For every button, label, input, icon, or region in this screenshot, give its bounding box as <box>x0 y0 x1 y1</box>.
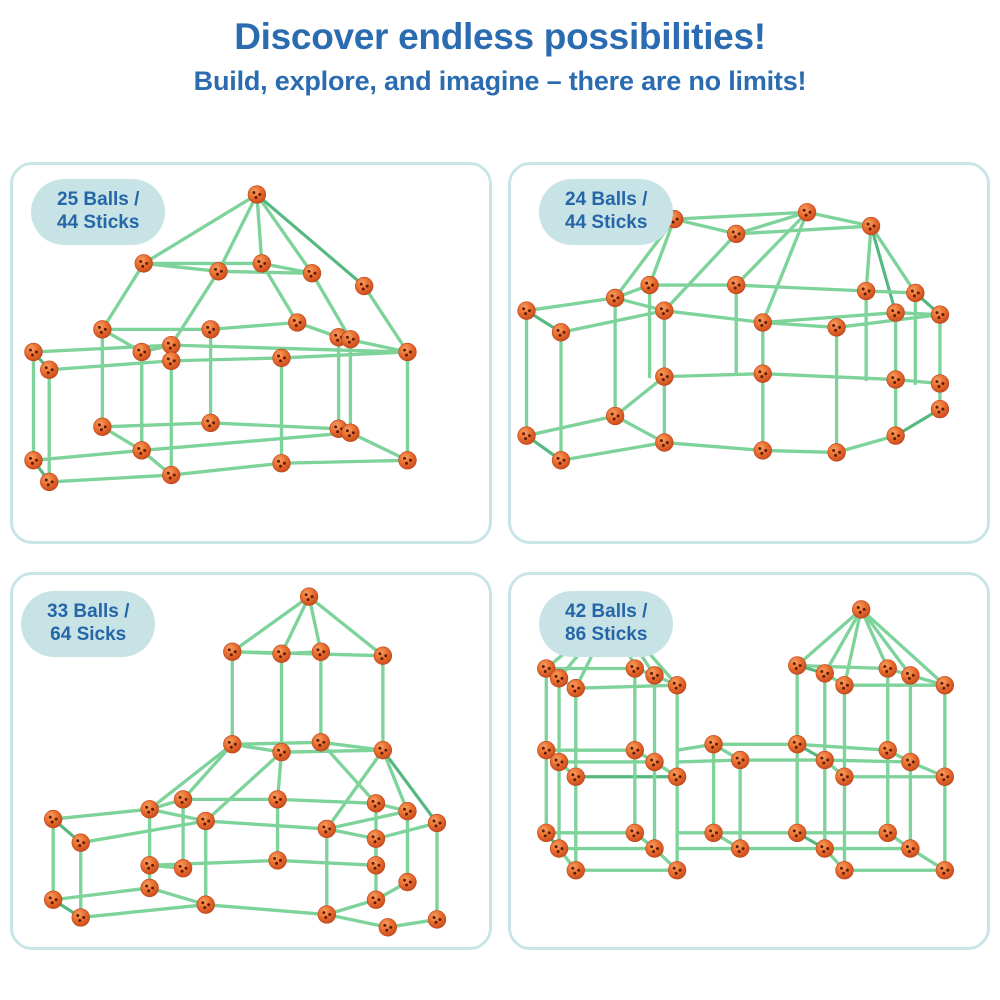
page-subtitle: Build, explore, and imagine – there are … <box>0 67 1000 95</box>
build-card-1[interactable]: 25 Balls / 44 Sticks <box>10 162 492 544</box>
page-title: Discover endless possibilities! <box>0 18 1000 57</box>
build-card-2[interactable]: 24 Balls / 44 Sticks <box>508 162 990 544</box>
header: Discover endless possibilities! Build, e… <box>0 0 1000 95</box>
piece-count-badge-2: 24 Balls / 44 Sticks <box>539 179 673 245</box>
piece-count-badge-1: 25 Balls / 44 Sticks <box>31 179 165 245</box>
piece-count-badge-3: 33 Balls / 64 Sicks <box>21 591 155 657</box>
piece-count-badge-4: 42 Balls / 86 Sticks <box>539 591 673 657</box>
build-card-4[interactable]: 42 Balls / 86 Sticks <box>508 572 990 950</box>
sticks-group-2 <box>527 212 940 460</box>
build-card-3[interactable]: 33 Balls / 64 Sicks <box>10 572 492 950</box>
promo-page: Discover endless possibilities! Build, e… <box>0 0 1000 1000</box>
